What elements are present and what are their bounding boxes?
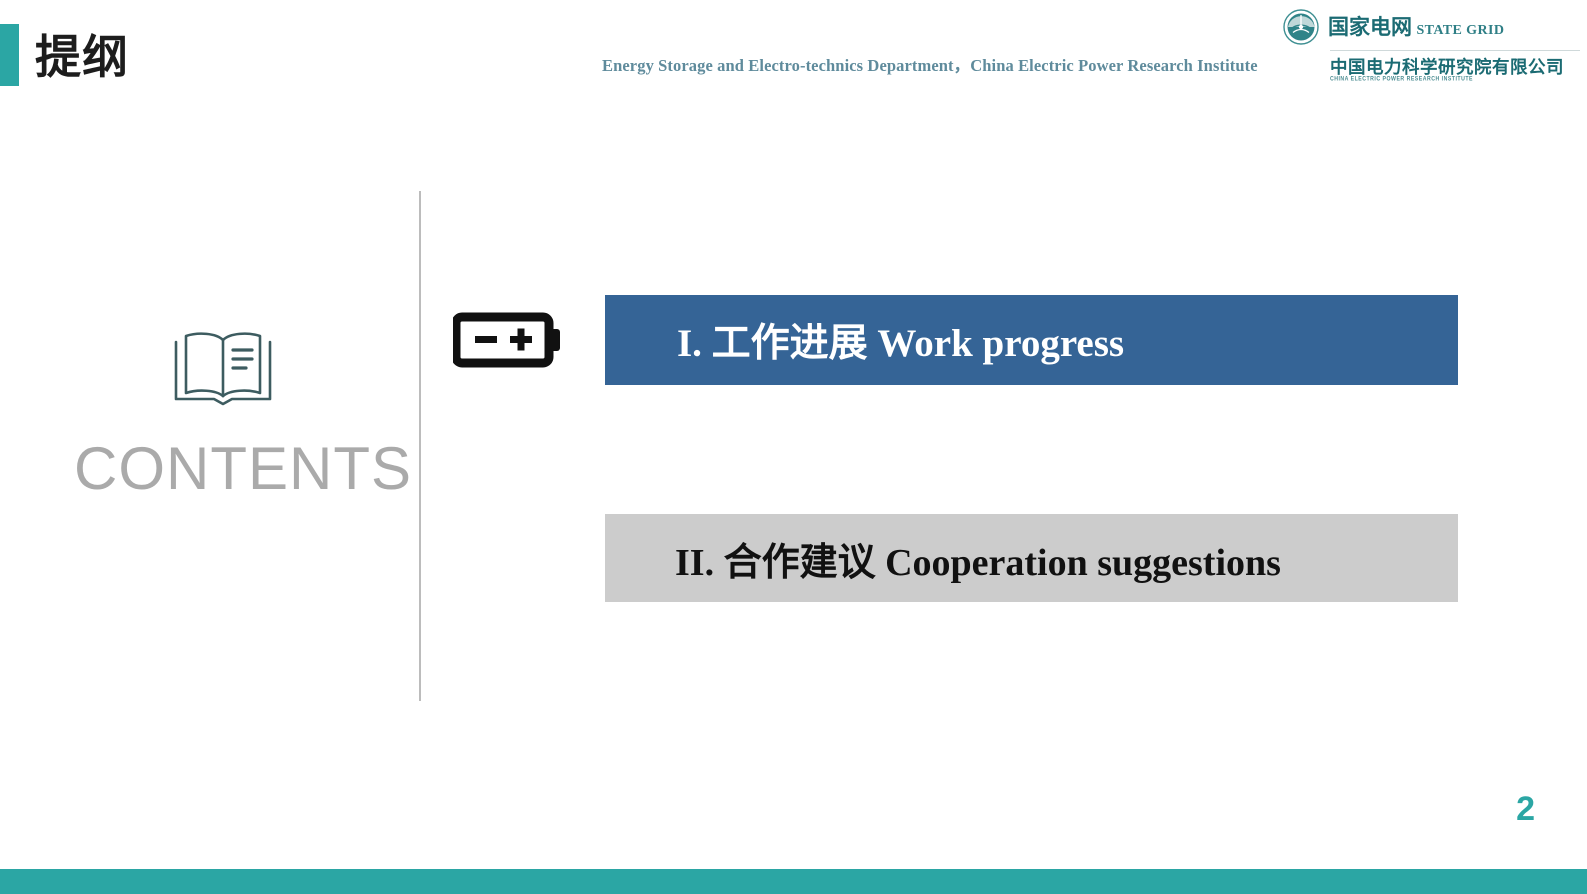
- title-accent-bar: [0, 24, 19, 86]
- contents-label: CONTENTS: [74, 436, 374, 502]
- vertical-divider: [419, 191, 421, 701]
- logo-brand-en: STATE GRID: [1416, 23, 1504, 38]
- organization-logo: 国家电网 STATE GRID 中国电力科学研究院有限公司 CHINA ELEC…: [1282, 6, 1582, 90]
- agenda-item-work-progress[interactable]: I. 工作进展 Work progress: [605, 295, 1458, 385]
- page-title: 提纲: [35, 28, 129, 86]
- logo-institute-en: CHINA ELECTRIC POWER RESEARCH INSTITUTE: [1330, 76, 1473, 83]
- logo-brand-text: 国家电网 STATE GRID: [1328, 17, 1504, 38]
- agenda-item-cooperation-suggestions[interactable]: II. 合作建议 Cooperation suggestions: [605, 514, 1458, 602]
- logo-brand-cn: 国家电网: [1328, 15, 1412, 39]
- slide-root: 提纲 Energy Storage and Electro-technics D…: [0, 0, 1587, 894]
- logo-divider: [1330, 50, 1580, 51]
- agenda-item-label: I. 工作进展 Work progress: [605, 312, 1124, 368]
- battery-icon: [453, 312, 563, 368]
- page-number: 2: [1516, 790, 1535, 828]
- logo-top-row: 国家电网 STATE GRID: [1282, 8, 1504, 46]
- footer-accent-bar: [0, 869, 1587, 894]
- state-grid-emblem-icon: [1282, 8, 1320, 46]
- open-book-icon: [170, 328, 276, 410]
- department-subtitle: Energy Storage and Electro-technics Depa…: [602, 52, 1262, 76]
- agenda-item-label: II. 合作建议 Cooperation suggestions: [605, 531, 1281, 586]
